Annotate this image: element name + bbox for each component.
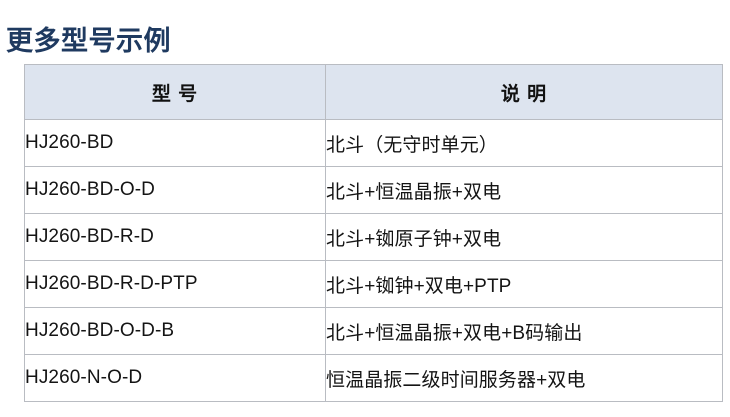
page-root: 更多型号示例 型 号 说 明 HJ260-BD [0, 0, 730, 417]
cell-description: 北斗（无守时单元） [326, 120, 723, 167]
table-row: HJ260-BD-O-D 北斗+恒温晶振+双电 [25, 167, 723, 214]
cell-model: HJ260-BD [25, 120, 326, 167]
cell-description: 北斗+恒温晶振+双电 [326, 167, 723, 214]
spec-table-container: 型 号 说 明 HJ260-BD 北斗（无守时单元） HJ260-BD-O-D … [24, 64, 722, 402]
cell-description: 北斗+恒温晶振+双电+B码输出 [326, 308, 723, 355]
page-title: 更多型号示例 [6, 24, 171, 58]
table-row: HJ260-BD-R-D 北斗+铷原子钟+双电 [25, 214, 723, 261]
table-header-row: 型 号 说 明 [25, 65, 723, 120]
column-header-description-label: 说 明 [501, 79, 547, 106]
table-header: 型 号 说 明 [25, 65, 723, 120]
cell-model: HJ260-BD-R-D [25, 214, 326, 261]
cell-model: HJ260-N-O-D [25, 355, 326, 402]
cell-description: 北斗+铷原子钟+双电 [326, 214, 723, 261]
table-row: HJ260-N-O-D 恒温晶振二级时间服务器+双电 [25, 355, 723, 402]
cell-model: HJ260-BD-R-D-PTP [25, 261, 326, 308]
cell-model: HJ260-BD-O-D [25, 167, 326, 214]
column-header-model-label: 型 号 [152, 79, 198, 106]
column-header-model: 型 号 [25, 65, 326, 120]
cell-description: 恒温晶振二级时间服务器+双电 [326, 355, 723, 402]
table-row: HJ260-BD-R-D-PTP 北斗+铷钟+双电+PTP [25, 261, 723, 308]
model-spec-table: 型 号 说 明 HJ260-BD 北斗（无守时单元） HJ260-BD-O-D … [24, 64, 723, 402]
cell-model: HJ260-BD-O-D-B [25, 308, 326, 355]
table-body: HJ260-BD 北斗（无守时单元） HJ260-BD-O-D 北斗+恒温晶振+… [25, 120, 723, 402]
table-row: HJ260-BD 北斗（无守时单元） [25, 120, 723, 167]
table-row: HJ260-BD-O-D-B 北斗+恒温晶振+双电+B码输出 [25, 308, 723, 355]
cell-description: 北斗+铷钟+双电+PTP [326, 261, 723, 308]
column-header-description: 说 明 [326, 65, 723, 120]
